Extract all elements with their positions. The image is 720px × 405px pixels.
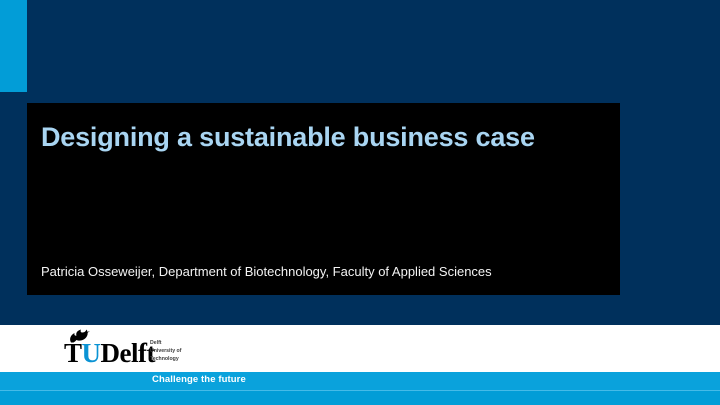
logo-wordmark: TUDelft [64, 340, 155, 367]
logo-word-delft: Delft [101, 338, 155, 368]
cyan-accent-block [0, 0, 27, 92]
footer-bar: Challenge the future [0, 372, 720, 405]
logo-tagline-line-3: Technology [150, 356, 206, 364]
logo-letter-t: T [64, 338, 82, 368]
logo-tagline-line-1: Delft [150, 340, 206, 348]
logo-tagline: Delft University of Technology [150, 340, 206, 363]
footer-divider [0, 390, 720, 391]
page-title: Designing a sustainable business case [41, 122, 601, 153]
logo-letter-u: U [82, 338, 101, 368]
slide-subtitle: Patricia Osseweijer, Department of Biote… [41, 264, 611, 280]
footer-tagline: Challenge the future [152, 375, 246, 385]
logo-mark: TUDelft [64, 329, 160, 369]
footer-bar-top-stripe [0, 372, 720, 390]
presentation-slide: Designing a sustainable business case Pa… [0, 0, 720, 405]
tu-delft-logo: TUDelft Delft University of Technology [64, 329, 160, 369]
logo-tagline-line-2: University of [150, 348, 206, 356]
title-content-panel: Designing a sustainable business case Pa… [27, 103, 620, 295]
